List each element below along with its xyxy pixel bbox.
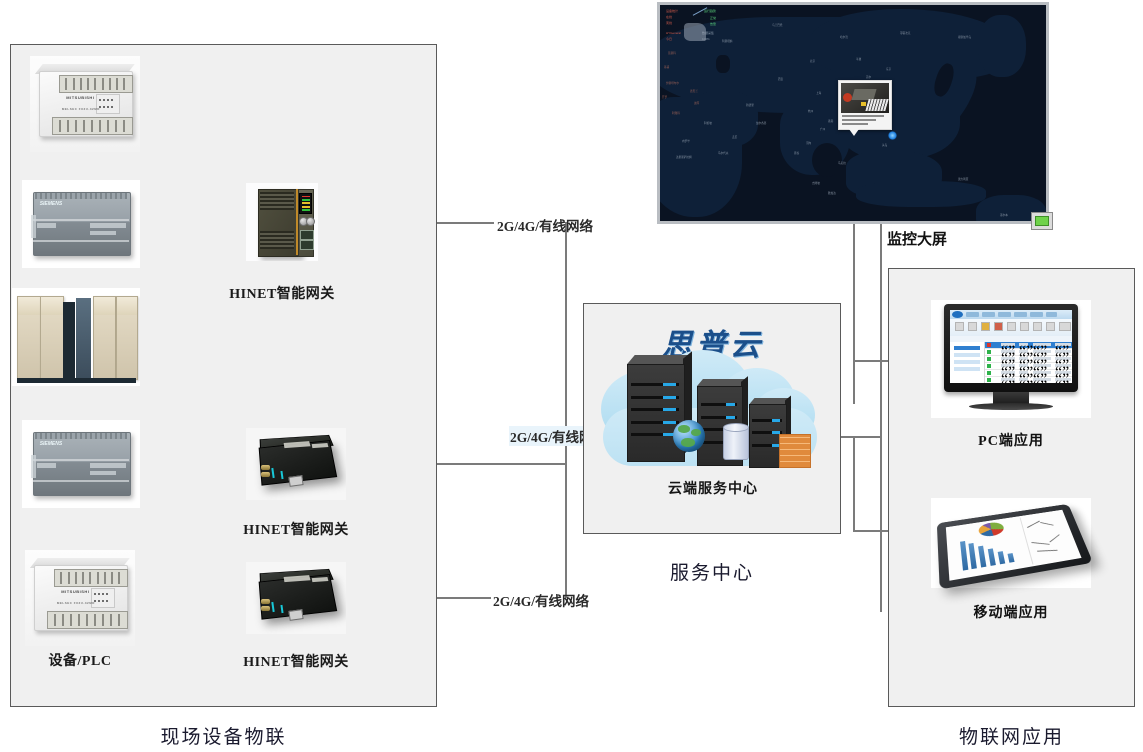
cloud-caption: 云端服务中心 — [593, 478, 833, 498]
big-screen-label: 监控大屏 — [887, 228, 947, 249]
monitor-bezel — [944, 304, 1078, 392]
screen-status-badge — [1031, 212, 1053, 230]
plc-seam-2 — [33, 240, 130, 242]
server-drive-bay — [701, 403, 738, 406]
server-drive-bay — [752, 431, 782, 434]
plc-brand-label: MITSUBISHI — [61, 589, 89, 594]
server-rack-large — [627, 364, 683, 460]
plc-slot-a — [37, 463, 56, 467]
gateway-antenna-connector — [261, 606, 270, 611]
server-drive-bay — [631, 383, 678, 386]
map-landmass-arabia — [688, 91, 758, 147]
plc-seam-1 — [33, 219, 130, 221]
server-drive-bay — [752, 444, 782, 447]
bar-chart-bar — [998, 551, 1006, 564]
network-label-bottom: 2G/4G/有线网络 — [493, 590, 589, 610]
rack-rail-bottom — [17, 378, 136, 383]
gateway-ethernet-port — [288, 475, 303, 487]
plc-slot-b — [90, 223, 125, 227]
server-drive-bay — [752, 419, 782, 422]
popup-text-line — [842, 115, 884, 117]
device-plc-mitsubishi-bottom[interactable]: MITSUBISHI MELSEC FX3U-32MR — [25, 550, 135, 646]
line-network-trunk — [565, 222, 567, 598]
line-mobile-drop — [853, 436, 855, 532]
device-gateway-top[interactable] — [246, 183, 318, 261]
app-data-grid — [985, 342, 1072, 383]
tablet-frame — [937, 504, 1093, 590]
server-drive-bay — [631, 421, 678, 424]
line-chart-segment — [1032, 542, 1050, 545]
globe-icon — [673, 420, 705, 452]
gateway-vent-bottom — [260, 231, 293, 248]
plc-model-label: MELSEC FX3U-32MR — [57, 601, 95, 605]
plc-seam-1 — [33, 459, 130, 461]
caption-field-zone: 现场设备物联 — [10, 722, 437, 749]
cloud-illustration[interactable]: 思普云 — [593, 312, 833, 512]
server-top — [697, 379, 747, 386]
plc-vent — [35, 193, 127, 199]
bar-chart-bar — [960, 541, 968, 571]
app-pc-image[interactable] — [931, 300, 1091, 418]
device-plc-siemens-top[interactable]: SIEMENS — [22, 180, 140, 268]
plc-terminal-row-bottom — [52, 117, 133, 134]
popup-device-photo — [841, 83, 889, 113]
plc-terminal-row-top — [59, 75, 134, 92]
plc-seam-2 — [33, 480, 130, 482]
map-landmass-kamchatka — [978, 15, 1026, 77]
device-plc-caption: 设备/PLC — [20, 650, 140, 670]
device-plc-rack[interactable] — [12, 288, 140, 386]
plc-slot-a — [37, 223, 56, 227]
plc-slot-b — [90, 463, 125, 467]
gateway-mid-caption: HINET智能网关 — [221, 519, 371, 539]
line-right-bus-vertical — [880, 224, 882, 612]
rack-module — [17, 296, 41, 380]
line-bigscreen-drop — [853, 224, 855, 404]
map-sea-caspian — [716, 55, 730, 73]
plc-brand-label: SIEMENS — [40, 201, 63, 207]
monitoring-big-screen[interactable]: 设备统计 在线 离线 运行趋势 正常 告警 HYGeneral 今日 数据采集 … — [657, 2, 1049, 224]
device-gateway-bottom[interactable] — [246, 562, 346, 634]
database-icon — [723, 426, 749, 460]
diagram-canvas: MITSUBISHI MELSEC FX3U-32MR SIEMENS SIEM… — [0, 0, 1143, 752]
gateway-antenna-connector — [261, 599, 270, 604]
rack-module — [93, 296, 117, 380]
database-top — [723, 423, 749, 432]
gateway-led-strip — [299, 193, 312, 214]
line-chart-segment — [1041, 522, 1054, 525]
line-chart-segment — [1049, 535, 1059, 543]
device-gateway-mid[interactable] — [246, 428, 346, 500]
bar-chart-bar — [978, 546, 986, 567]
line-chart-segment — [1027, 521, 1040, 528]
gateway-top-caption: HINET智能网关 — [207, 283, 357, 303]
gateway-ethernet-port-1 — [300, 230, 314, 240]
rack-module — [116, 296, 138, 380]
server-front — [627, 364, 685, 462]
bar-chart-bar — [1007, 553, 1014, 563]
gateway-vent-top — [260, 192, 293, 209]
plc-terminal-row-bottom — [47, 611, 128, 628]
server-top — [627, 355, 691, 364]
caption-service-zone: 服务中心 — [583, 558, 841, 585]
server-drive-bay — [631, 396, 678, 399]
plc-vent — [35, 433, 127, 439]
device-plc-siemens-mid[interactable]: SIEMENS — [22, 420, 140, 508]
pie-chart — [978, 521, 1005, 538]
map-landmass-indonesia — [856, 181, 986, 207]
app-toolbar — [950, 319, 1072, 337]
gateway-antenna-connector — [261, 465, 270, 470]
popup-pointer — [849, 129, 859, 136]
bar-chart-bar — [988, 549, 996, 566]
gateway-antenna-connector — [261, 472, 270, 477]
map-sea-bengal — [812, 143, 842, 177]
rack-cpu-slot — [63, 302, 75, 378]
rack-module — [40, 296, 64, 380]
monitor-screen — [950, 310, 1072, 383]
server-drive-bay — [631, 408, 678, 411]
plc-connector-left — [31, 215, 36, 238]
gateway-ethernet-port-2 — [300, 240, 314, 250]
app-mobile-image[interactable] — [931, 498, 1091, 588]
plc-connector-left — [31, 455, 36, 478]
plc-terminal-row-top — [54, 569, 129, 586]
app-pc-caption: PC端应用 — [931, 430, 1091, 450]
monitor-base — [969, 403, 1053, 410]
server-drive-bay — [631, 433, 678, 436]
gateway-ethernet-port — [288, 609, 303, 621]
map-location-marker[interactable] — [888, 131, 897, 140]
plc-slot-c — [90, 231, 116, 235]
popup-text-line — [842, 123, 868, 125]
network-label-top: 2G/4G/有线网络 — [497, 215, 593, 235]
plc-model-label: MELSEC FX3U-32MR — [62, 107, 100, 111]
gateway-bottom-caption: HINET智能网关 — [221, 651, 371, 671]
app-device-tree — [950, 342, 985, 383]
bar-chart-bar — [969, 543, 977, 569]
popup-text-line — [842, 119, 876, 121]
firewall-icon — [779, 434, 811, 468]
plc-slot-c — [90, 471, 116, 475]
server-drive-bay — [701, 416, 738, 419]
plc-brand-label: MITSUBISHI — [66, 95, 94, 100]
caption-apps-zone: 物联网应用 — [888, 722, 1135, 749]
map-device-popup[interactable] — [838, 80, 892, 130]
line-chart-segment — [1037, 550, 1057, 552]
device-plc-mitsubishi[interactable]: MITSUBISHI MELSEC FX3U-32MR — [30, 56, 140, 152]
rack-power-module — [76, 298, 91, 378]
tablet-screen — [946, 510, 1082, 581]
plc-brand-label: SIEMENS — [40, 441, 63, 447]
app-mobile-caption: 移动端应用 — [931, 602, 1091, 622]
